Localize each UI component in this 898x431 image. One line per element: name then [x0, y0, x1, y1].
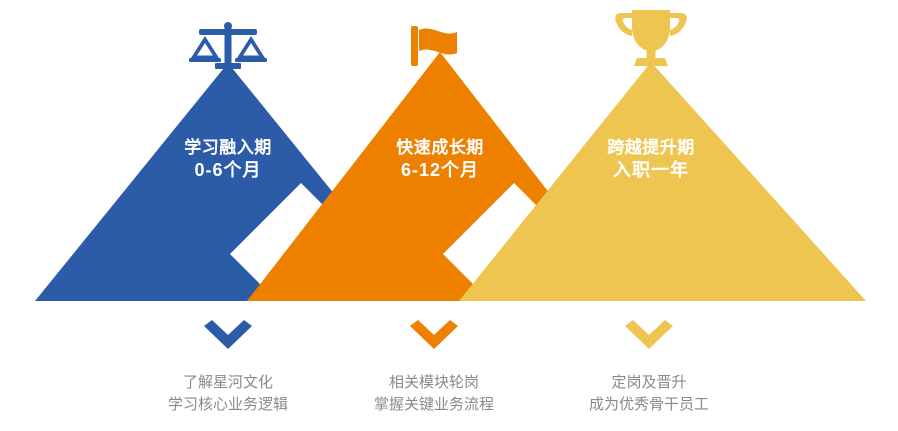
trophy-icon [615, 10, 687, 66]
caption-1-line-1: 了解星河文化 [138, 372, 318, 394]
caption-2-line-2: 掌握关键业务流程 [344, 394, 524, 416]
caption-3-line-2: 成为优秀骨干员工 [559, 394, 739, 416]
infographic-canvas: 学习融入期 0-6个月 快速成长期 6-12个月 跨越提升期 入职一年 了解星河… [0, 0, 898, 431]
caption-2: 相关模块轮岗 掌握关键业务流程 [344, 372, 524, 416]
caption-1-line-2: 学习核心业务逻辑 [138, 394, 318, 416]
caption-1: 了解星河文化 学习核心业务逻辑 [138, 372, 318, 416]
balance-scale-icon [189, 22, 267, 69]
caption-3-line-1: 定岗及晋升 [559, 372, 739, 394]
caption-3: 定岗及晋升 成为优秀骨干员工 [559, 372, 739, 416]
caption-2-line-1: 相关模块轮岗 [344, 372, 524, 394]
growth-path-diagram [0, 0, 898, 431]
